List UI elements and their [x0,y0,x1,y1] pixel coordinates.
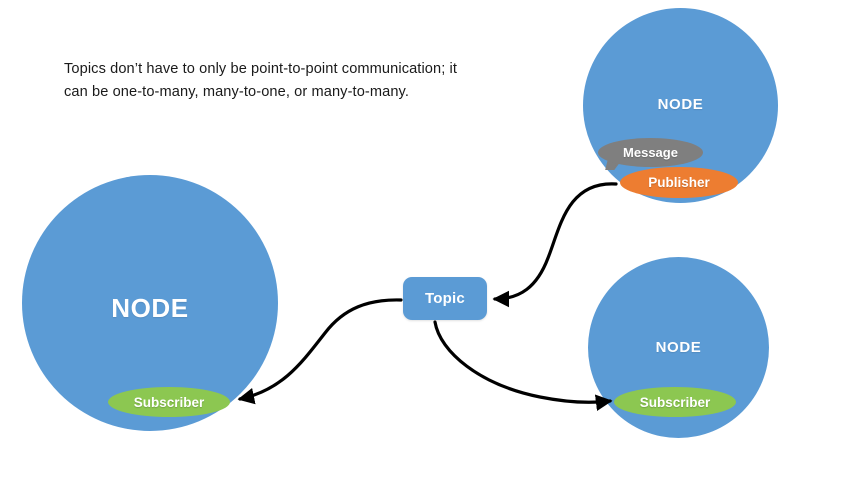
publisher-ellipse[interactable]: Publisher [620,167,738,198]
subscriber-bottom-right[interactable]: Subscriber [614,387,736,417]
connector-topic-to-bottom-right-subscriber [435,322,610,402]
connector-publisher-to-topic [495,184,616,299]
subscriber-left-label: Subscriber [134,395,205,410]
topic-box[interactable]: Topic [403,277,487,320]
caption-line-1: Topics don’t have to only be point-to-po… [64,58,484,81]
node-left-label: NODE [22,293,278,324]
subscriber-left[interactable]: Subscriber [108,387,230,417]
caption-line-2: can be one-to-many, many-to-one, or many… [64,81,484,104]
caption-text: Topics don’t have to only be point-to-po… [64,58,484,103]
publisher-label: Publisher [648,175,710,190]
message-label: Message [623,145,678,160]
topic-label: Topic [425,290,465,307]
node-bottom-right-label: NODE [588,339,769,356]
message-bubble[interactable]: Message [598,138,703,167]
diagram-canvas: Topics don’t have to only be point-to-po… [0,0,854,480]
subscriber-bottom-right-label: Subscriber [640,395,711,410]
node-top-right-label: NODE [583,96,778,113]
